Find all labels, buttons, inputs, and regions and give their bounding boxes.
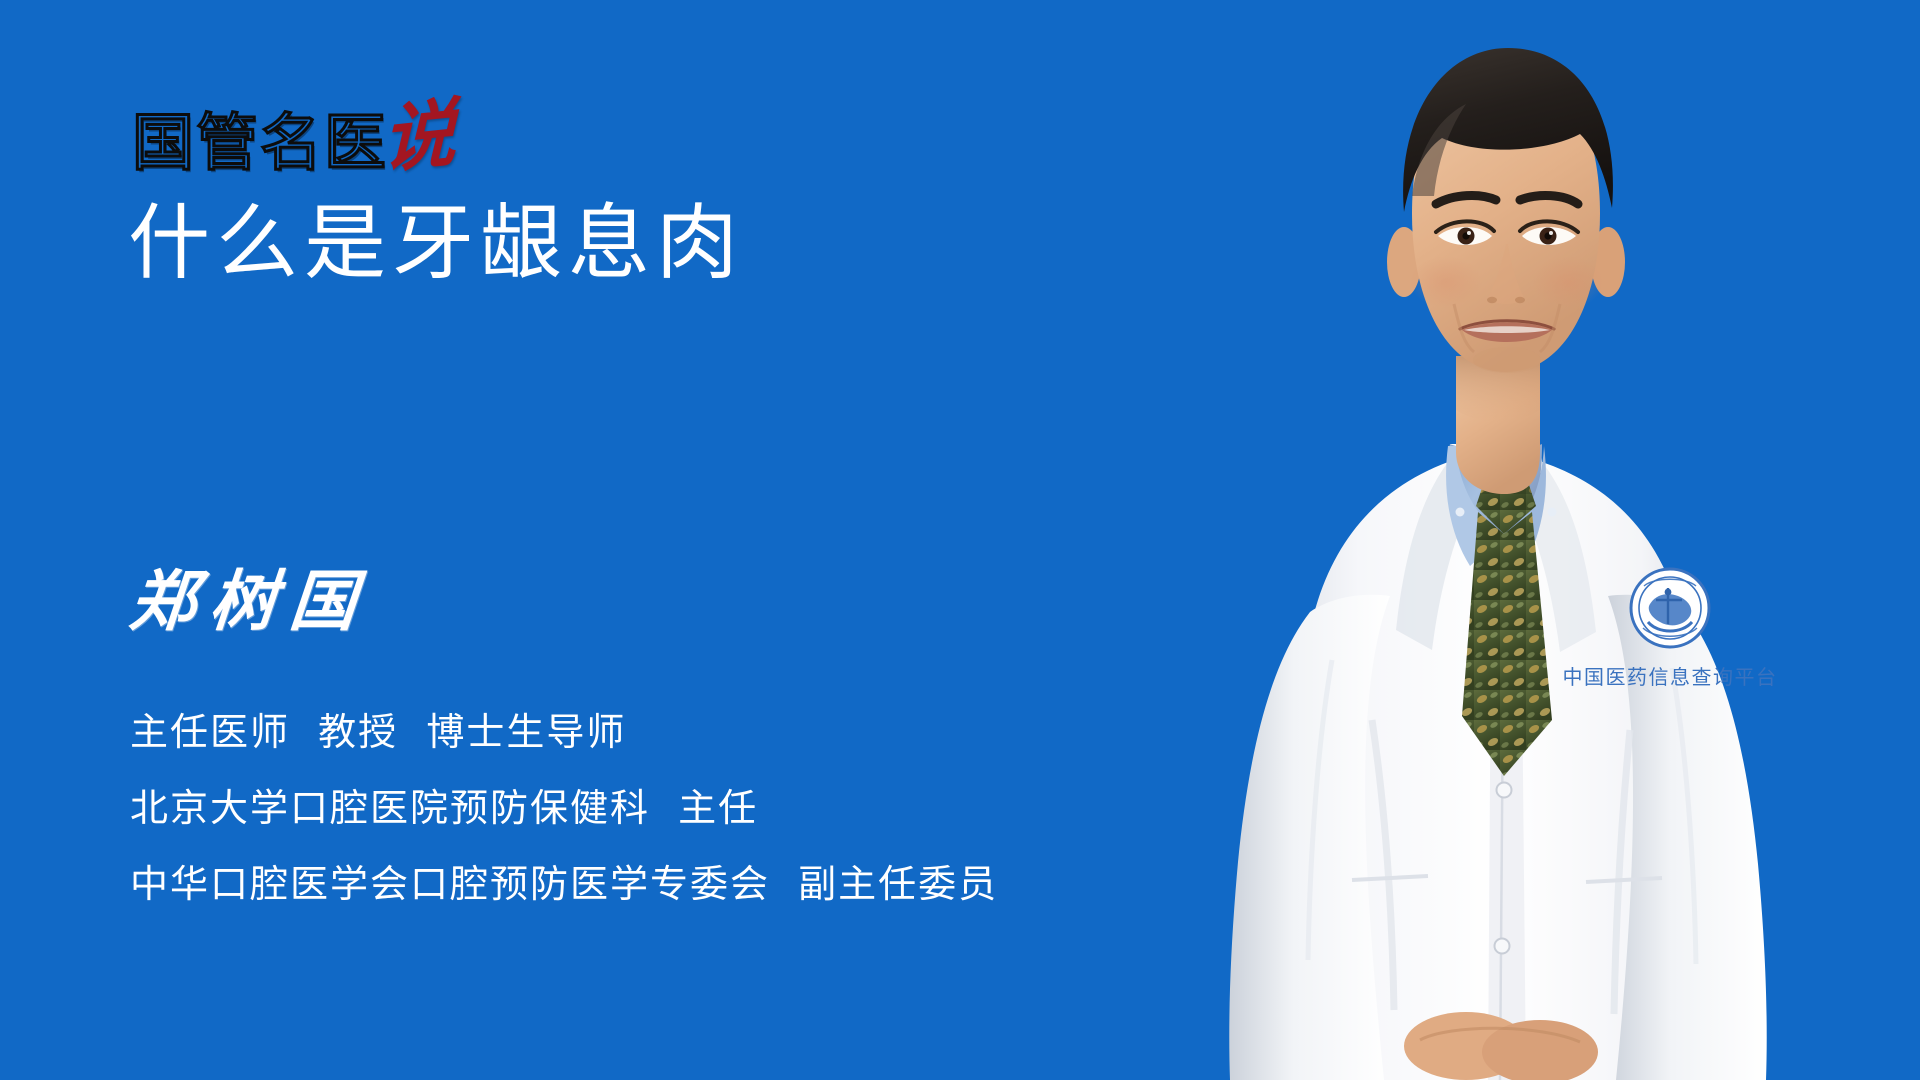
badge-caption-text: 中国医药信息查询平台 xyxy=(1563,665,1778,689)
credential-line-2: 北京大学口腔医院预防保健科 主任 xyxy=(130,788,998,830)
speaker-credentials: 主任医师 教授 博士生导师 北京大学口腔医院预防保健科 主任 中华口腔医学会口腔… xyxy=(130,712,998,905)
speaker-name: 郑树国 xyxy=(127,568,373,634)
credential-line-3: 中华口腔医学会口腔预防医学专委会 副主任委员 xyxy=(130,864,998,906)
coat-button xyxy=(1495,939,1510,954)
brand-logo-accent-text: 说 xyxy=(382,101,456,174)
speaker-portrait-photo: 中国医药信息查询平台 xyxy=(980,0,1920,1080)
title-card-stage: 国管名医 说 什么是牙龈息肉 郑树国 主任医师 教授 博士生导师 北京大学口腔医… xyxy=(0,0,1920,1080)
head xyxy=(1403,48,1613,373)
brand-logo-main-text: 国管名医 xyxy=(132,112,388,174)
badge-emblem-icon xyxy=(1630,568,1710,648)
coat-button xyxy=(1497,783,1512,798)
credential-line-1: 主任医师 教授 博士生导师 xyxy=(130,712,998,754)
neck xyxy=(1456,356,1540,494)
page-title: 什么是牙龈息肉 xyxy=(128,196,744,293)
brand-logo: 国管名医 说 xyxy=(132,92,456,174)
